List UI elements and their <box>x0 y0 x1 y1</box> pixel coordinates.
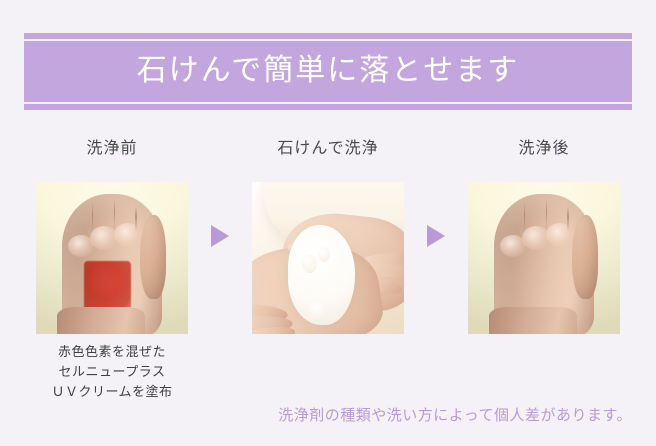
thumb <box>140 215 166 300</box>
finger-crease <box>92 203 94 232</box>
header-banner: 石けんで簡単に落とせます <box>24 33 632 110</box>
foam-blob <box>318 247 330 262</box>
arrow-right-icon <box>211 225 229 247</box>
page-title: 石けんで簡単に落とせます <box>24 33 632 110</box>
photo-before-wash <box>36 182 188 334</box>
red-pigment-patch <box>84 261 131 311</box>
step-label-after: 洗浄後 <box>518 138 569 160</box>
wrist <box>57 307 145 334</box>
arrow-cell-1 <box>188 138 252 334</box>
step-washing: 石けんで洗浄 <box>252 138 404 334</box>
wrist <box>489 307 577 334</box>
arrow-right-icon <box>427 225 445 247</box>
foam-blob <box>309 299 326 321</box>
finger-crease <box>567 206 569 232</box>
caption-line-1: 赤色色素を混ぜた <box>27 342 197 362</box>
soap-foam <box>288 225 355 325</box>
finger-crease <box>546 199 548 231</box>
caption-line-3: ＵＶクリームを塗布 <box>27 382 197 402</box>
caption-line-2: セルニュープラス <box>27 362 197 382</box>
finger-crease <box>524 203 526 232</box>
knuckle <box>546 223 574 246</box>
knuckle <box>114 223 142 246</box>
step-label-washing: 石けんで洗浄 <box>277 138 378 160</box>
arrow-cell-2 <box>404 138 468 334</box>
footnote-text: 洗浄剤の種類や洗い方によって個人差があります。 <box>278 408 632 423</box>
step-before-wash: 洗浄前 赤色色素を混ぜた セルニュープラス ＵＶクリームを塗布 <box>36 138 188 402</box>
finger-crease <box>114 199 116 231</box>
steps-row: 洗浄前 赤色色素を混ぜた セルニュープラス ＵＶクリームを塗布 石 <box>0 138 656 402</box>
finger-crease <box>135 206 137 232</box>
step-after-wash: 洗浄後 <box>468 138 620 334</box>
thumb <box>572 215 598 300</box>
photo-after-wash <box>468 182 620 334</box>
foam-blob <box>302 255 317 273</box>
step-label-before: 洗浄前 <box>86 138 137 160</box>
caption-before-wash: 赤色色素を混ぜた セルニュープラス ＵＶクリームを塗布 <box>27 342 197 402</box>
photo-washing <box>252 182 404 334</box>
